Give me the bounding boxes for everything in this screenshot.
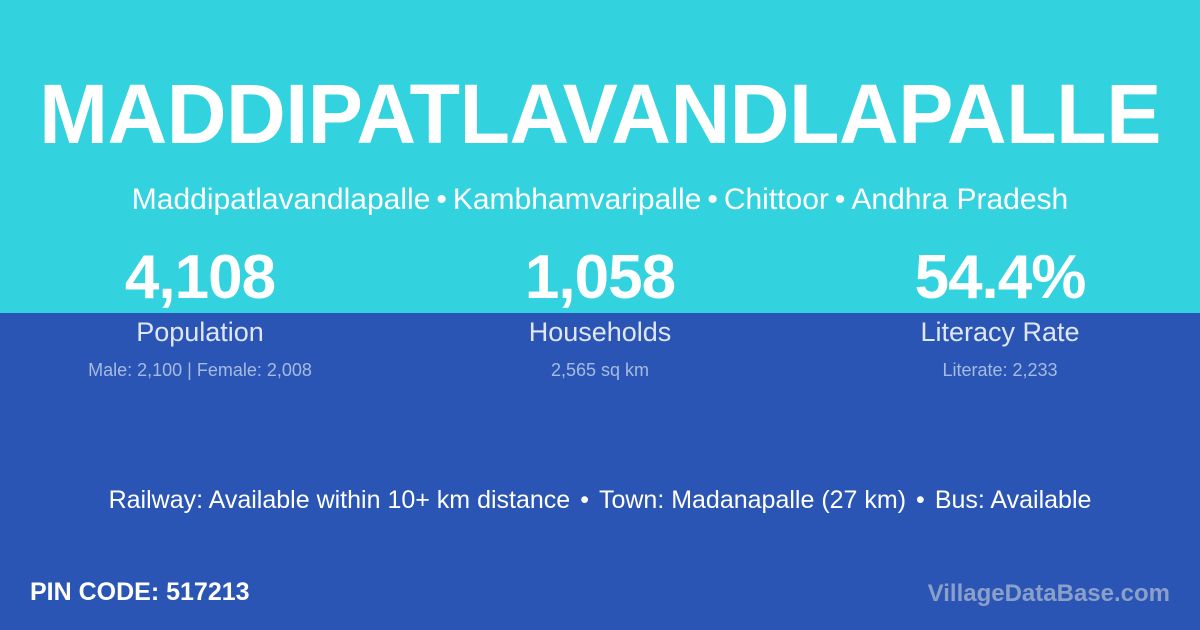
breadcrumb-village: Maddipatlavandlapalle xyxy=(132,183,431,216)
stat-households: 1,058 Households 2,565 sq km xyxy=(400,243,800,383)
stat-label: Literacy Rate xyxy=(800,315,1200,349)
facilities-separator-1: • xyxy=(570,486,599,514)
stats-row: 4,108 Population Male: 2,100 | Female: 2… xyxy=(0,243,1200,383)
breadcrumb: Maddipatlavandlapalle•Kambhamvaripalle•C… xyxy=(0,181,1200,219)
stat-value: 1,058 xyxy=(400,243,800,313)
breadcrumb-state: Andhra Pradesh xyxy=(851,183,1068,216)
village-info-card: MADDIPATLAVANDLAPALLE Maddipatlavandlapa… xyxy=(0,0,1200,630)
stat-sublabel: Male: 2,100 | Female: 2,008 xyxy=(0,357,400,383)
page-title: MADDIPATLAVANDLAPALLE xyxy=(9,64,1191,164)
stat-literacy-rate: 54.4% Literacy Rate Literate: 2,233 xyxy=(800,243,1200,383)
stat-sublabel: 2,565 sq km xyxy=(400,357,800,383)
breadcrumb-separator-2: • xyxy=(701,183,724,216)
stat-label: Population xyxy=(0,315,400,349)
pin-code: PIN CODE: 517213 xyxy=(30,576,250,608)
breadcrumb-separator-3: • xyxy=(829,183,852,216)
stat-population: 4,108 Population Male: 2,100 | Female: 2… xyxy=(0,243,400,383)
breadcrumb-district: Chittoor xyxy=(724,183,829,216)
stat-label: Households xyxy=(400,315,800,349)
facility-town: Town: Madanapalle (27 km) xyxy=(599,486,906,514)
stat-value: 4,108 xyxy=(0,243,400,313)
stat-value: 54.4% xyxy=(800,243,1200,313)
facilities-line: Railway: Available within 10+ km distanc… xyxy=(0,483,1200,517)
site-watermark: VillageDataBase.com xyxy=(928,578,1170,610)
breadcrumb-panchayat: Kambhamvaripalle xyxy=(453,183,701,216)
facilities-separator-2: • xyxy=(906,486,935,514)
facility-railway: Railway: Available within 10+ km distanc… xyxy=(109,486,571,514)
facility-bus: Bus: Available xyxy=(935,486,1092,514)
stat-sublabel: Literate: 2,233 xyxy=(800,357,1200,383)
breadcrumb-separator-1: • xyxy=(430,183,453,216)
